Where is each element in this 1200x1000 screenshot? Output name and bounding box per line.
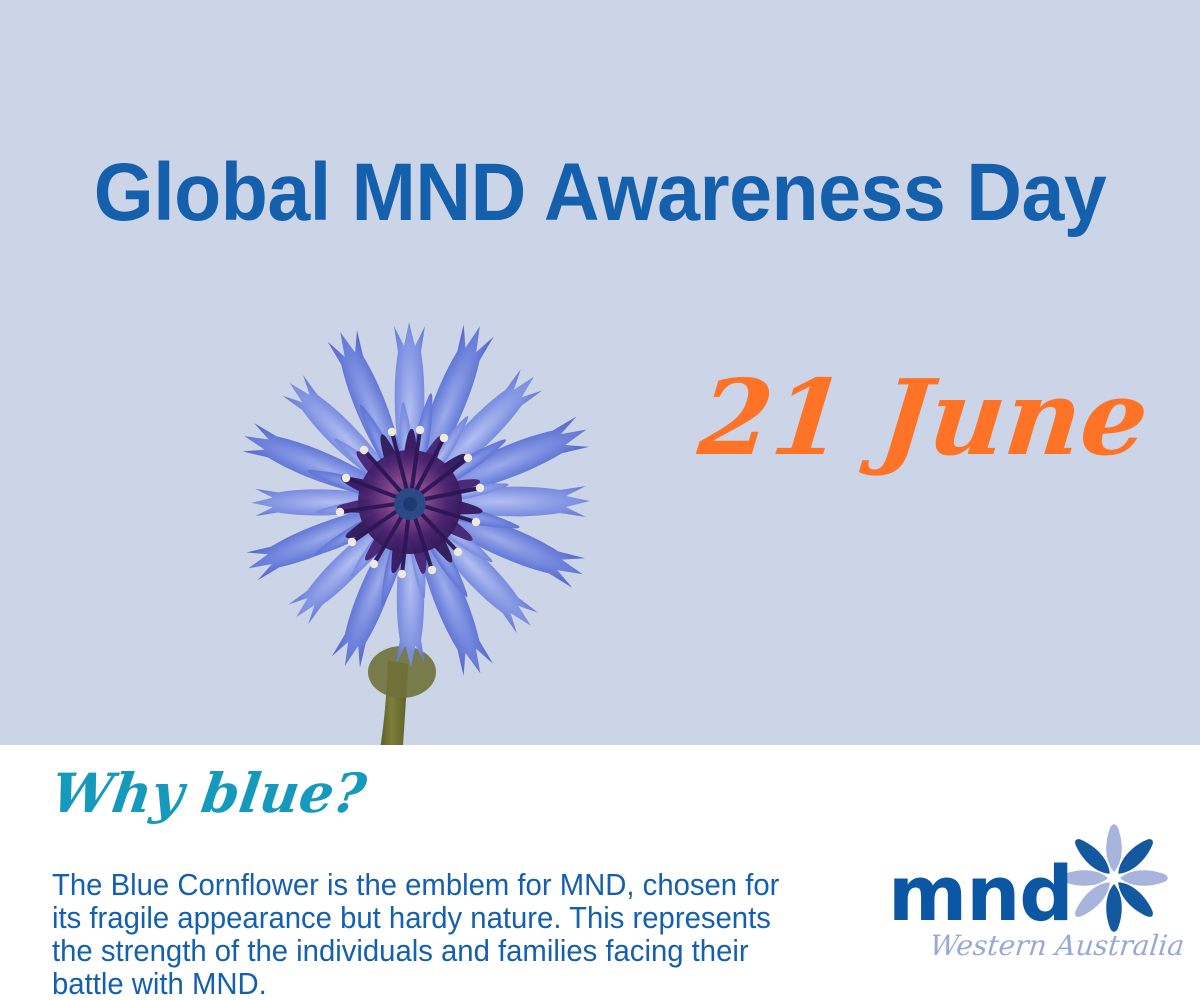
logo-tagline: Western Australia bbox=[928, 930, 1186, 962]
why-blue-heading: Why blue? bbox=[48, 762, 370, 824]
event-date: 21 June bbox=[694, 358, 1127, 478]
mnd-western-australia-logo: mnd Western Australia bbox=[888, 822, 1168, 972]
poster-canvas: Global MND Awareness Day 21 June Why blu… bbox=[0, 0, 1200, 1000]
hero-panel: Global MND Awareness Day 21 June bbox=[0, 0, 1200, 745]
page-title: Global MND Awareness Day bbox=[36, 149, 1164, 237]
logo-wordmark: mnd bbox=[888, 856, 1073, 932]
mnd-flower-mark-icon bbox=[1058, 822, 1170, 934]
why-blue-body-text: The Blue Cornflower is the emblem for MN… bbox=[52, 869, 810, 1000]
cornflower-image bbox=[120, 240, 700, 745]
